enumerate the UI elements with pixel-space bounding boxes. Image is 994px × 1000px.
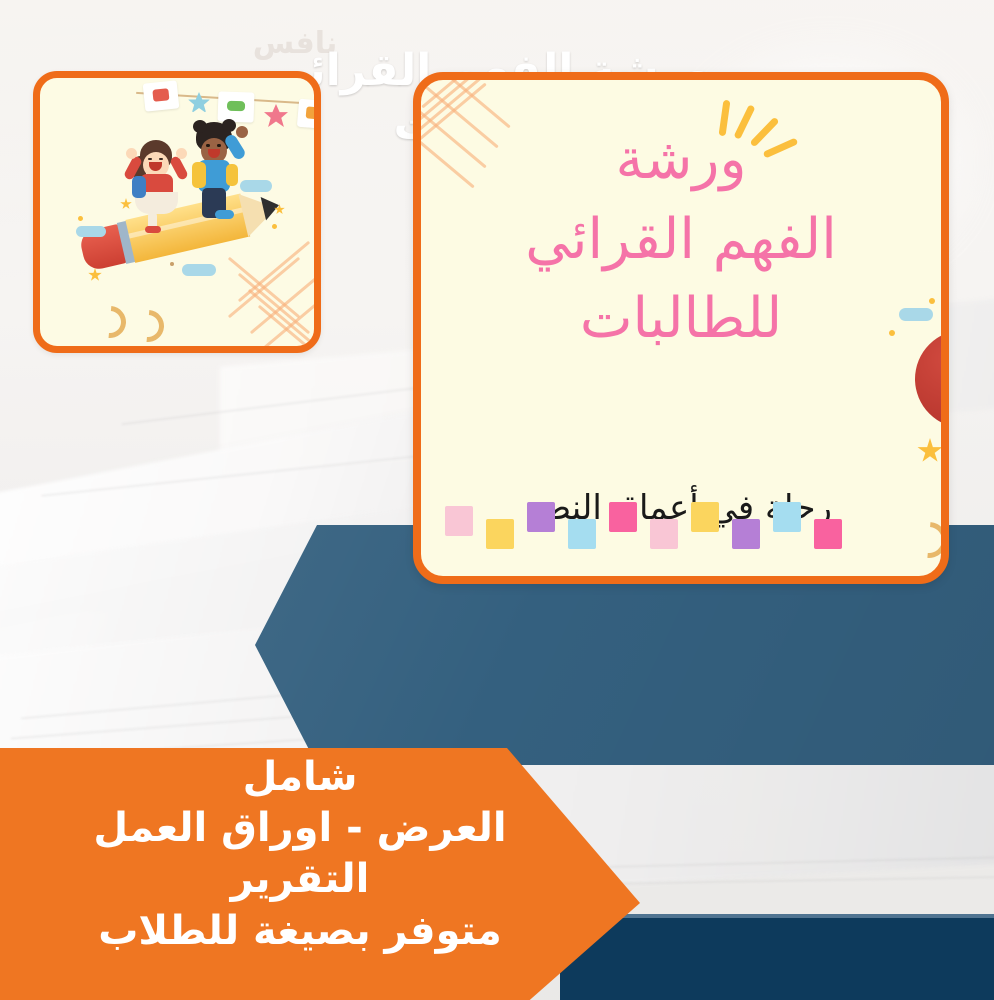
boy-character — [182, 116, 250, 228]
main-poster-card[interactable]: ورشة الفهم القرائي للطالبات رحلة في أعما… — [413, 72, 949, 584]
orange-line-2: العرض - اوراق العمل — [0, 803, 600, 854]
orange-line-3: التقرير — [0, 854, 600, 905]
cloud-icon — [76, 226, 106, 237]
swatch — [609, 502, 637, 532]
flower-icon — [264, 104, 288, 128]
color-swatch-row — [445, 502, 865, 550]
dot-icon — [272, 224, 277, 229]
orange-line-4: متوفر بصيغة للطلاب — [0, 906, 600, 957]
swatch — [650, 519, 678, 549]
crosshatch-decoration — [226, 274, 314, 346]
swatch — [527, 502, 555, 532]
thumbnail-artwork — [40, 78, 314, 346]
orange-line-1: شامل — [0, 752, 600, 803]
cloud-icon — [240, 180, 272, 192]
swatch — [691, 502, 719, 532]
main-title-line1: ورشة — [421, 120, 941, 200]
hanging-photo-icon — [297, 99, 314, 130]
swatch — [814, 519, 842, 549]
cloud-icon — [182, 264, 216, 276]
navy-bottom-bar — [560, 918, 994, 1000]
star-icon — [917, 438, 941, 464]
swatch — [445, 506, 473, 536]
swatch — [773, 502, 801, 532]
girl-character — [126, 130, 188, 230]
hanging-photo-icon — [143, 80, 180, 111]
main-title-line2: الفهم القرائي — [421, 200, 941, 280]
swatch — [486, 519, 514, 549]
poster-canvas: نافس ورشة الفهم القرائي للطالبات شامل ال… — [0, 0, 994, 1000]
swirl-decoration — [125, 303, 170, 346]
swatch — [732, 519, 760, 549]
orange-banner-text: شامل العرض - اوراق العمل التقرير متوفر ب… — [0, 752, 600, 957]
preview-thumbnail-card[interactable] — [33, 71, 321, 353]
dot-icon — [78, 216, 83, 221]
swirl-decoration — [87, 299, 132, 344]
main-title-line3: للطالبات — [421, 279, 941, 359]
main-card-artwork: ورشة الفهم القرائي للطالبات رحلة في أعما… — [421, 80, 941, 576]
swatch — [568, 519, 596, 549]
dot-icon — [170, 262, 174, 266]
main-card-title: ورشة الفهم القرائي للطالبات — [421, 120, 941, 359]
